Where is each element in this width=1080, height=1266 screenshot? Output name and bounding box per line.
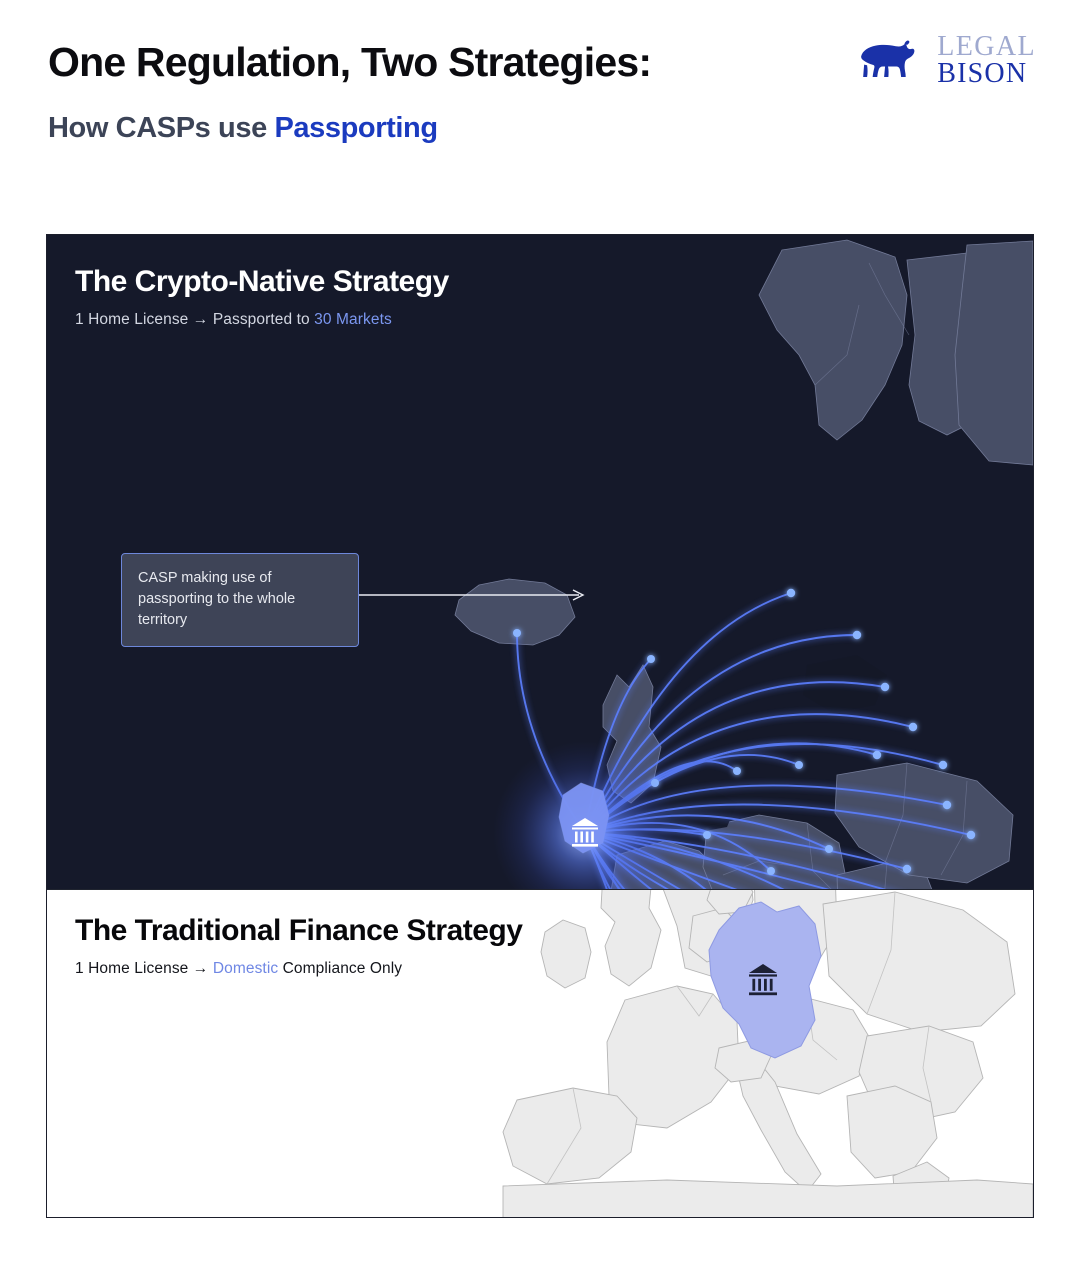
- panel-title-crypto: The Crypto-Native Strategy: [75, 265, 449, 299]
- logo-wordmark: LEGAL BISON: [937, 33, 1036, 87]
- panel-sub-suffix-tradfi: Compliance Only: [278, 960, 402, 977]
- callout-crypto-native: CASP making use of passporting to the wh…: [121, 553, 359, 647]
- brand-logo[interactable]: LEGAL BISON: [854, 33, 1036, 87]
- panel-sub-accent-crypto: 30 Markets: [314, 311, 392, 328]
- panel-header-crypto: The Crypto-Native Strategy 1 Home Licens…: [75, 265, 449, 329]
- comparison-panels: The Crypto-Native Strategy 1 Home Licens…: [46, 234, 1034, 1218]
- page-subtitle: How CASPs use Passporting: [48, 113, 438, 145]
- panel-title-tradfi: The Traditional Finance Strategy: [75, 914, 522, 948]
- subtitle-prefix: How CASPs use: [48, 112, 274, 144]
- subtitle-accent: Passporting: [274, 112, 437, 144]
- panel-traditional-finance: The Traditional Finance Strategy 1 Home …: [47, 889, 1033, 1218]
- logo-line-bison: BISON: [937, 60, 1036, 87]
- panel-header-tradfi: The Traditional Finance Strategy 1 Home …: [75, 914, 522, 978]
- panel-sub-accent-tradfi: Domestic: [213, 960, 278, 977]
- panel-sub-prefix-tradfi: 1 Home License →: [75, 960, 213, 977]
- page-header: One Regulation, Two Strategies: How CASP…: [0, 0, 1080, 234]
- panel-sub-prefix-crypto: 1 Home License → Passported to: [75, 311, 314, 328]
- panel-crypto-native: The Crypto-Native Strategy 1 Home Licens…: [47, 235, 1033, 889]
- page-title: One Regulation, Two Strategies:: [48, 40, 651, 85]
- logo-line-legal: LEGAL: [937, 33, 1036, 60]
- panel-subtitle-tradfi: 1 Home License → Domestic Compliance Onl…: [75, 960, 522, 978]
- callout-connector-dark: [359, 585, 619, 605]
- panel-subtitle-crypto: 1 Home License → Passported to 30 Market…: [75, 311, 449, 329]
- bison-icon: [854, 36, 926, 84]
